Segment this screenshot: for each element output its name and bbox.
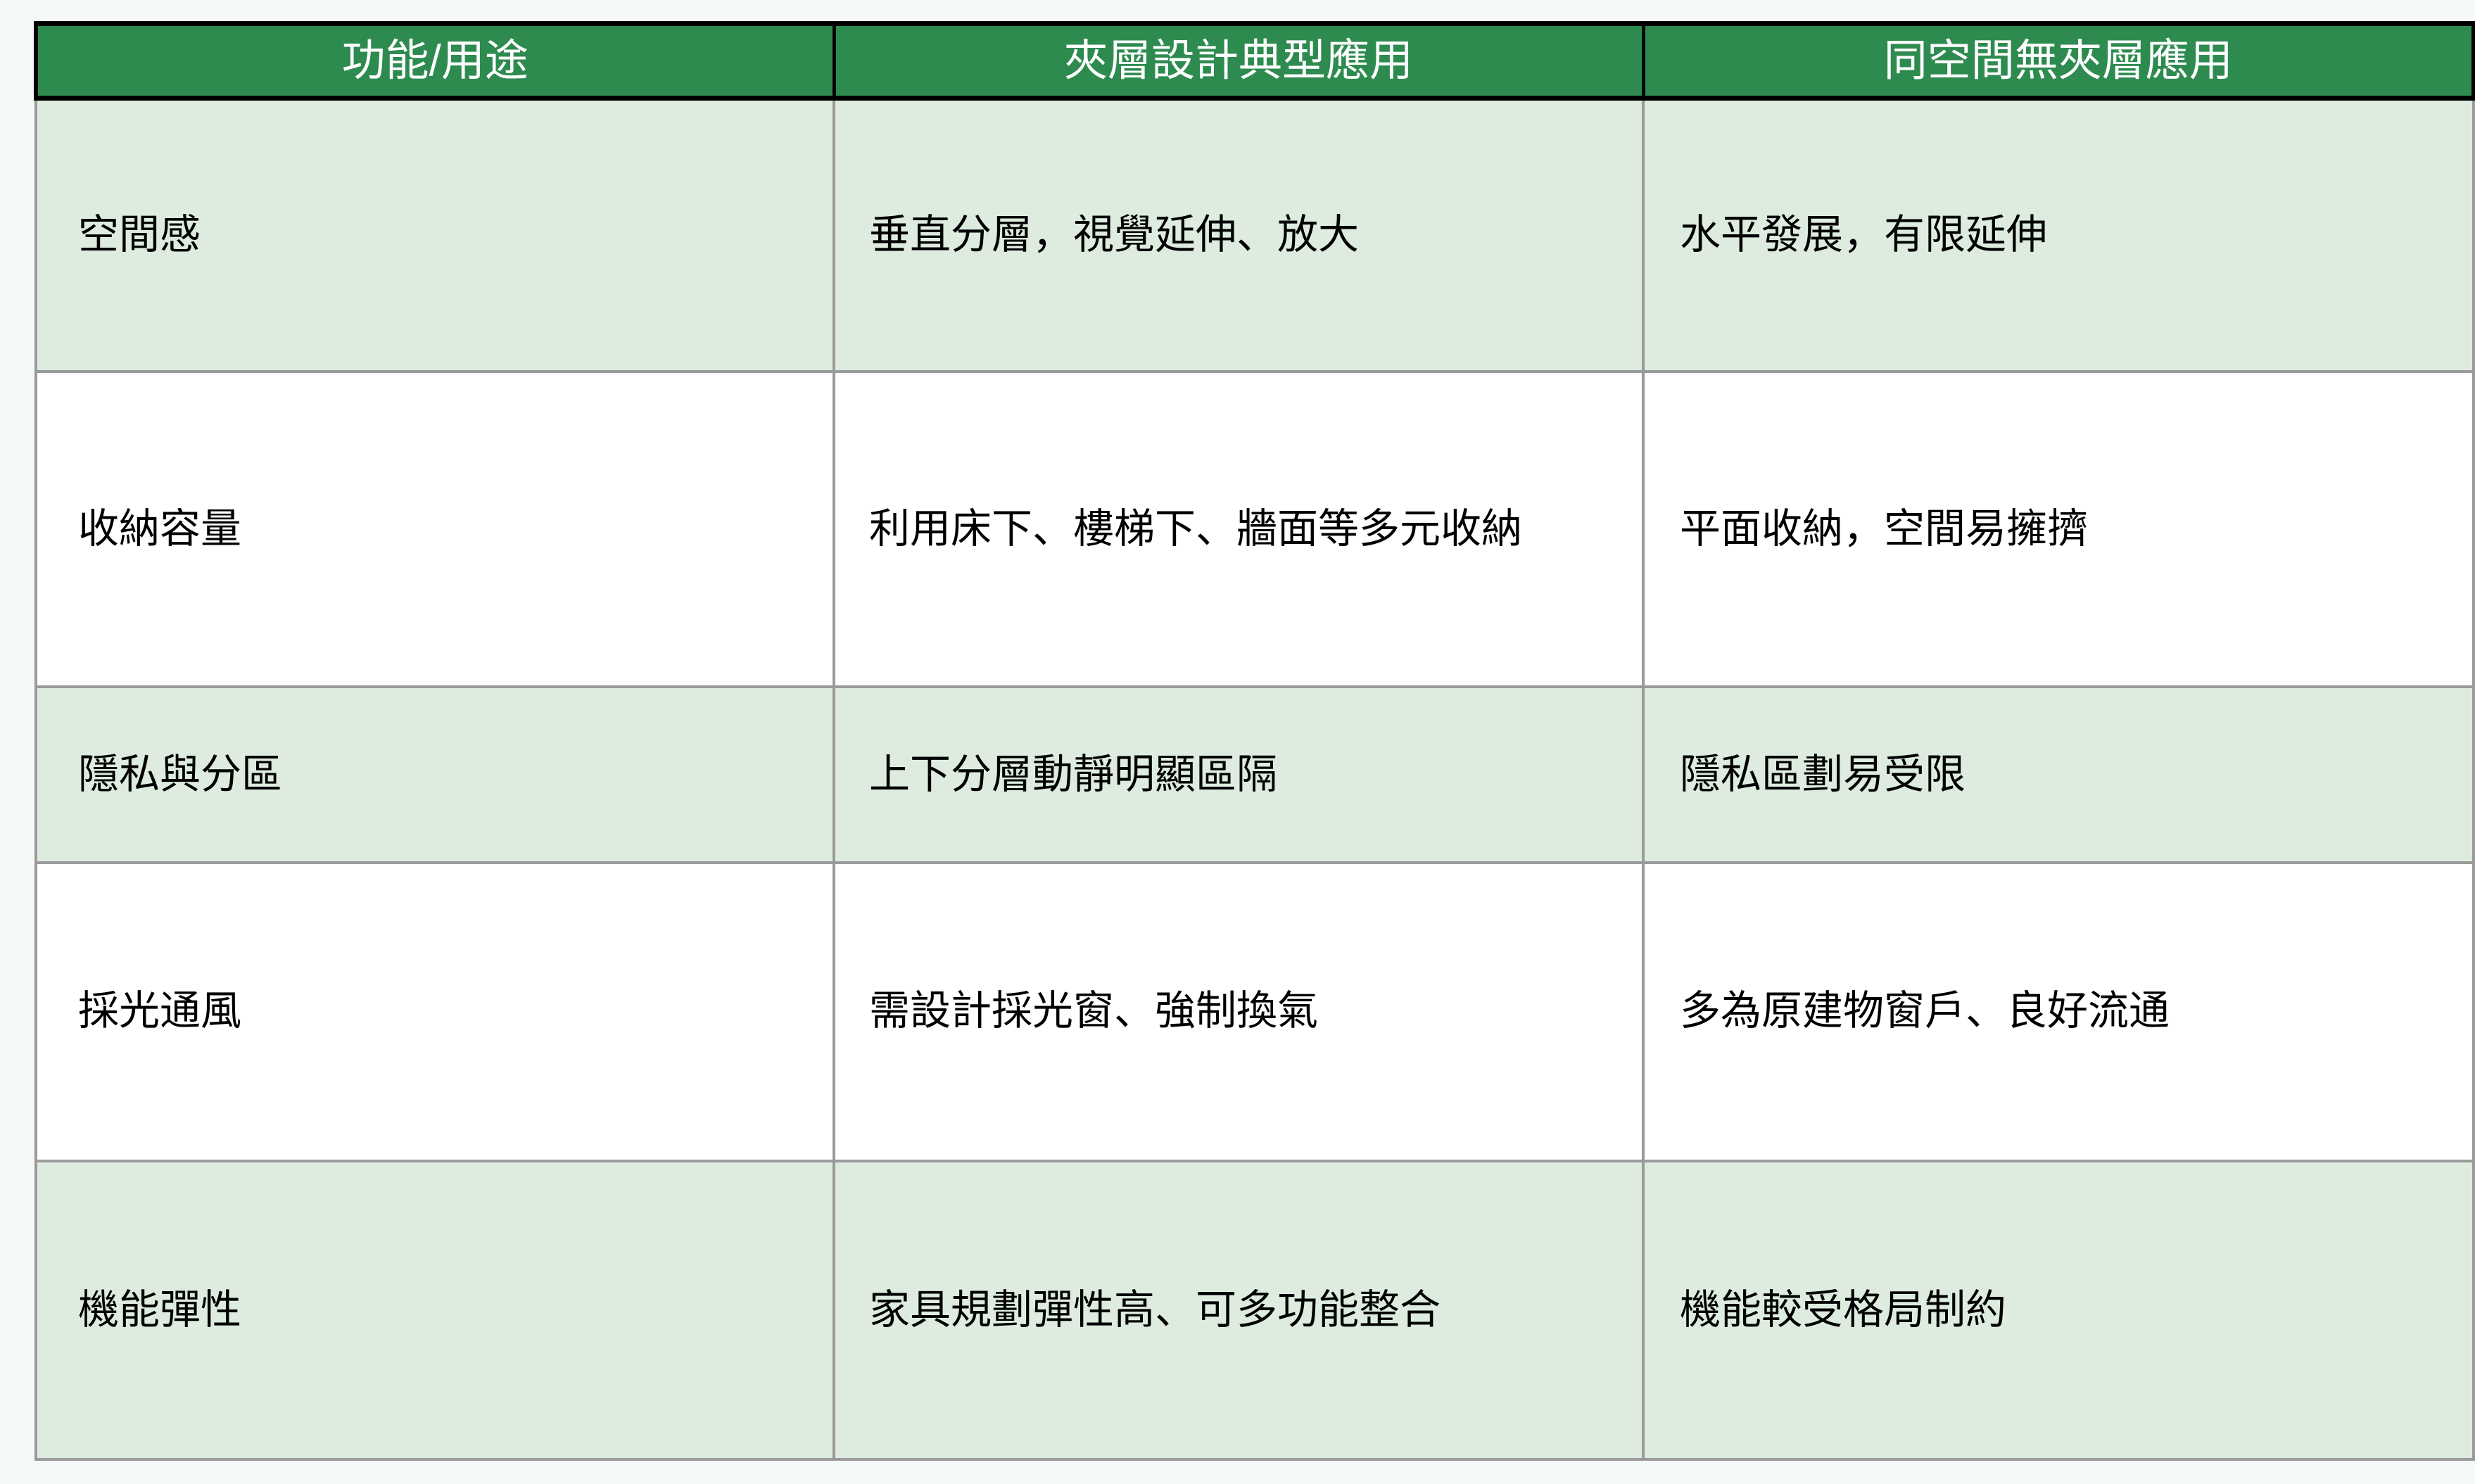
cell-mezzanine: 家具規劃彈性高、可多功能整合 xyxy=(834,1161,1643,1459)
cell-feature: 隱私與分區 xyxy=(36,687,834,862)
cell-no-mezzanine: 平面收納，空間易擁擠 xyxy=(1643,372,2474,687)
table-row: 採光通風 需設計採光窗、強制換氣 多為原建物窗戶、良好流通 xyxy=(36,863,2474,1161)
cell-feature: 採光通風 xyxy=(36,863,834,1161)
cell-no-mezzanine: 機能較受格局制約 xyxy=(1643,1161,2474,1459)
cell-feature: 收納容量 xyxy=(36,372,834,687)
cell-mezzanine: 上下分層動靜明顯區隔 xyxy=(834,687,1643,862)
comparison-table-container: 功能/用途 夾層設計典型應用 同空間無夾層應用 空間感 垂直分層，視覺延伸、放大… xyxy=(34,21,2471,1461)
column-header-mezzanine-application: 夾層設計典型應用 xyxy=(834,24,1643,99)
table-row: 機能彈性 家具規劃彈性高、可多功能整合 機能較受格局制約 xyxy=(36,1161,2474,1459)
table-body: 空間感 垂直分層，視覺延伸、放大 水平發展，有限延伸 收納容量 利用床下、樓梯下… xyxy=(36,99,2474,1459)
cell-feature: 空間感 xyxy=(36,99,834,372)
cell-mezzanine: 垂直分層，視覺延伸、放大 xyxy=(834,99,1643,372)
table-row: 收納容量 利用床下、樓梯下、牆面等多元收納 平面收納，空間易擁擠 xyxy=(36,372,2474,687)
column-header-no-mezzanine-application: 同空間無夾層應用 xyxy=(1643,24,2474,99)
cell-mezzanine: 利用床下、樓梯下、牆面等多元收納 xyxy=(834,372,1643,687)
cell-no-mezzanine: 水平發展，有限延伸 xyxy=(1643,99,2474,372)
table-header: 功能/用途 夾層設計典型應用 同空間無夾層應用 xyxy=(36,24,2474,99)
cell-no-mezzanine: 多為原建物窗戶、良好流通 xyxy=(1643,863,2474,1161)
column-header-feature: 功能/用途 xyxy=(36,24,834,99)
table-row: 空間感 垂直分層，視覺延伸、放大 水平發展，有限延伸 xyxy=(36,99,2474,372)
cell-mezzanine: 需設計採光窗、強制換氣 xyxy=(834,863,1643,1161)
table-header-row: 功能/用途 夾層設計典型應用 同空間無夾層應用 xyxy=(36,24,2474,99)
table-row: 隱私與分區 上下分層動靜明顯區隔 隱私區劃易受限 xyxy=(36,687,2474,862)
cell-no-mezzanine: 隱私區劃易受限 xyxy=(1643,687,2474,862)
cell-feature: 機能彈性 xyxy=(36,1161,834,1459)
comparison-table: 功能/用途 夾層設計典型應用 同空間無夾層應用 空間感 垂直分層，視覺延伸、放大… xyxy=(34,21,2475,1461)
